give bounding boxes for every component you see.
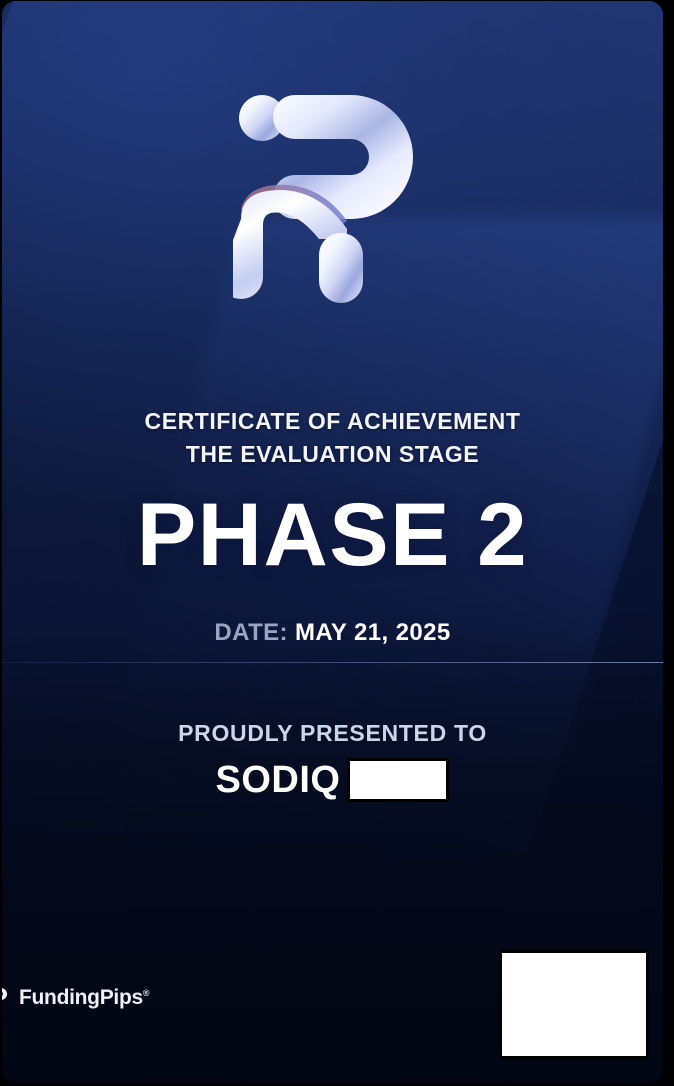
recipient-name-row: SODIQ <box>2 758 663 802</box>
date-value: MAY 21, 2025 <box>295 619 451 646</box>
recipient-surname-redaction-box <box>347 758 449 802</box>
footer-brand-name: FundingPips® <box>19 986 149 1010</box>
fundingpips-logo-mark <box>233 81 433 309</box>
footer-brand: FundingPips® <box>2 986 149 1010</box>
registered-trademark-mark: ® <box>143 988 149 998</box>
phase-title: PHASE 2 <box>2 488 663 580</box>
logo-pill <box>319 233 363 303</box>
date-row: DATE: MAY 21, 2025 <box>2 619 663 647</box>
recipient-first-name: SODIQ <box>216 758 341 802</box>
corner-redaction-box <box>499 950 649 1059</box>
presented-to-label: PROUDLY PRESENTED TO <box>2 720 663 747</box>
date-label: DATE: <box>214 619 288 646</box>
logo-container <box>2 81 663 309</box>
certificate-card: CERTIFICATE OF ACHIEVEMENT THE EVALUATIO… <box>2 1 663 1083</box>
certificate-heading: CERTIFICATE OF ACHIEVEMENT THE EVALUATIO… <box>2 405 663 471</box>
fundingpips-p-icon <box>2 986 12 1010</box>
section-divider <box>2 662 663 663</box>
heading-line-2: THE EVALUATION STAGE <box>2 438 663 471</box>
footer-brand-text: FundingPips <box>19 986 143 1009</box>
heading-line-1: CERTIFICATE OF ACHIEVEMENT <box>2 405 663 438</box>
